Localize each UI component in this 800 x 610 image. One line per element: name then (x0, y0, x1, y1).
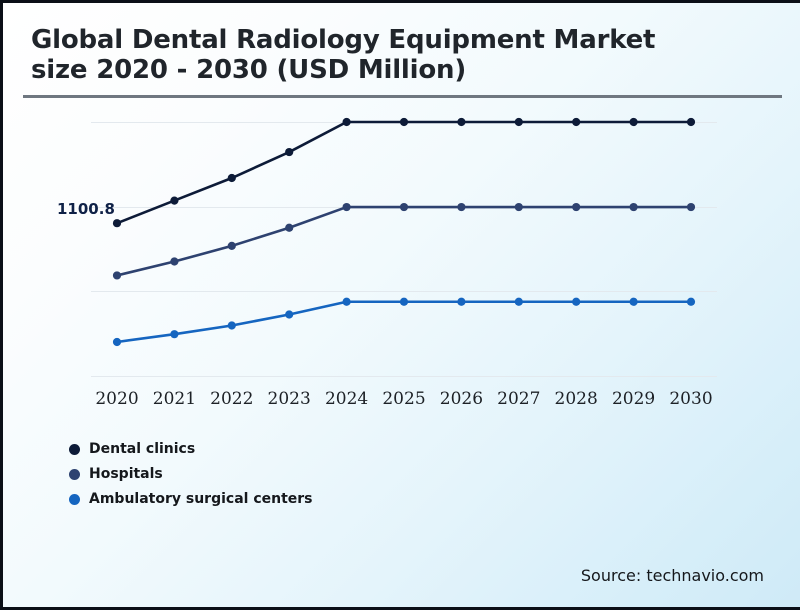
x-axis-tick-2026: 2026 (440, 389, 483, 409)
legend-item[interactable]: Hospitals (69, 462, 313, 486)
x-axis-tick-2025: 2025 (382, 389, 425, 409)
series-line (117, 302, 691, 342)
data-point-marker[interactable] (285, 224, 293, 232)
data-point-marker[interactable] (113, 219, 121, 227)
data-point-marker[interactable] (687, 298, 695, 306)
legend-swatch-icon (69, 444, 80, 455)
data-point-marker[interactable] (572, 203, 580, 211)
data-point-marker[interactable] (113, 338, 121, 346)
data-point-marker[interactable] (343, 118, 351, 126)
data-point-marker[interactable] (457, 118, 465, 126)
series-line (117, 207, 691, 275)
data-point-marker[interactable] (515, 203, 523, 211)
data-point-marker[interactable] (400, 298, 408, 306)
data-point-marker[interactable] (228, 242, 236, 250)
data-point-marker[interactable] (572, 118, 580, 126)
data-point-marker[interactable] (400, 118, 408, 126)
x-axis-tick-2021: 2021 (153, 389, 196, 409)
data-point-marker[interactable] (687, 118, 695, 126)
legend-label: Ambulatory surgical centers (89, 491, 313, 507)
data-point-marker[interactable] (170, 196, 178, 204)
data-point-marker[interactable] (400, 203, 408, 211)
legend-swatch-icon (69, 469, 80, 480)
line-series-svg (91, 115, 717, 383)
data-point-marker[interactable] (285, 148, 293, 156)
series-group (113, 203, 695, 280)
data-point-marker[interactable] (457, 298, 465, 306)
x-axis-tick-2024: 2024 (325, 389, 368, 409)
data-point-marker[interactable] (630, 298, 638, 306)
data-point-marker[interactable] (515, 118, 523, 126)
chart-title-line-2: size 2020 - 2030 (USD Million) (31, 55, 466, 85)
x-axis-tick-2020: 2020 (95, 389, 138, 409)
data-point-marker[interactable] (228, 321, 236, 329)
legend-label: Dental clinics (89, 441, 195, 457)
legend-item[interactable]: Dental clinics (69, 437, 313, 461)
data-point-marker[interactable] (572, 298, 580, 306)
x-axis-tick-2023: 2023 (268, 389, 311, 409)
series-group (113, 298, 695, 346)
x-axis-tick-2029: 2029 (612, 389, 655, 409)
data-point-marker[interactable] (343, 298, 351, 306)
data-point-marker[interactable] (113, 271, 121, 279)
legend-label: Hospitals (89, 466, 163, 482)
title-divider (23, 95, 782, 98)
x-axis: 2020202120222023202420252026202720282029… (91, 389, 717, 415)
data-point-label: 1100.8 (57, 200, 115, 218)
data-point-marker[interactable] (343, 203, 351, 211)
x-axis-tick-2027: 2027 (497, 389, 540, 409)
chart-legend: Dental clinicsHospitalsAmbulatory surgic… (69, 437, 313, 512)
page-title: Global Dental Radiology Equipment Market… (31, 25, 751, 86)
legend-swatch-icon (69, 494, 80, 505)
data-point-marker[interactable] (285, 310, 293, 318)
chart-title-line-1: Global Dental Radiology Equipment Market (31, 25, 655, 55)
x-axis-tick-2022: 2022 (210, 389, 253, 409)
data-point-marker[interactable] (515, 298, 523, 306)
plot-area: 1100.8 (91, 115, 717, 383)
data-point-marker[interactable] (228, 174, 236, 182)
legend-item[interactable]: Ambulatory surgical centers (69, 487, 313, 511)
title-block: Global Dental Radiology Equipment Market… (31, 25, 751, 86)
data-point-marker[interactable] (170, 330, 178, 338)
infographic-card: Global Dental Radiology Equipment Market… (0, 0, 800, 610)
data-point-marker[interactable] (687, 203, 695, 211)
data-point-marker[interactable] (630, 118, 638, 126)
data-point-marker[interactable] (630, 203, 638, 211)
x-axis-tick-2028: 2028 (555, 389, 598, 409)
source-note: Source: technavio.com (581, 566, 764, 585)
data-point-marker[interactable] (170, 257, 178, 265)
x-axis-tick-2030: 2030 (669, 389, 712, 409)
data-point-marker[interactable] (457, 203, 465, 211)
